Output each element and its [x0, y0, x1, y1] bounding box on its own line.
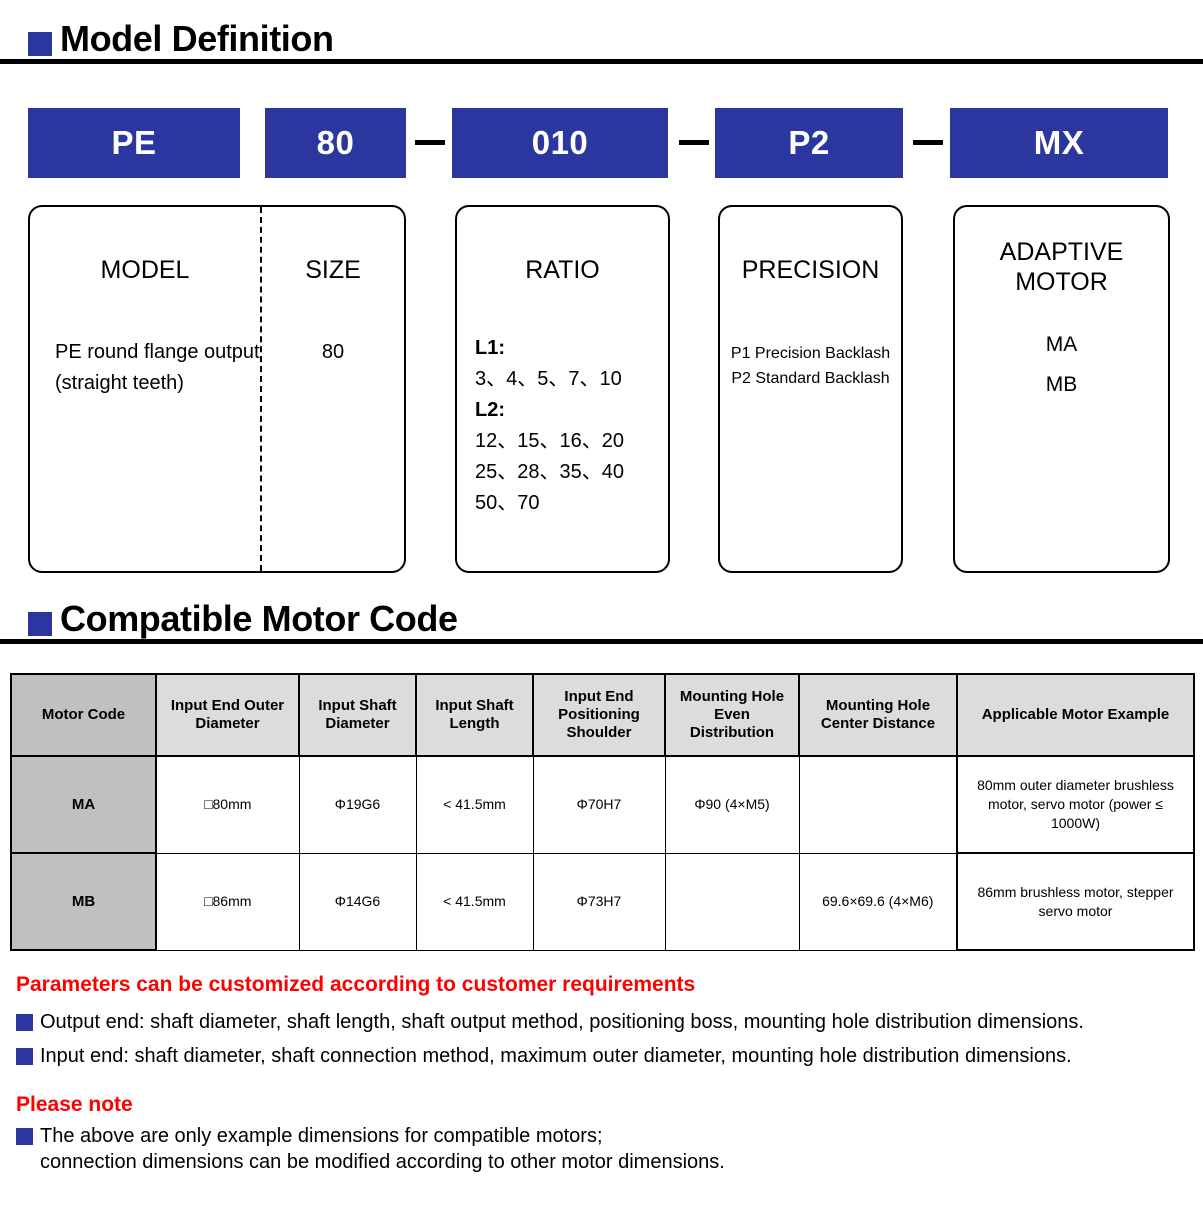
note-item-text: Output end: shaft diameter, shaft length…	[40, 1009, 1084, 1035]
note-item-text: The above are only example dimensions fo…	[40, 1123, 725, 1175]
model-code-segment-adaptive-motor[interactable]: MX	[950, 108, 1168, 178]
table-row: MB □86mm Φ14G6 < 41.5mm Φ73H7 69.6×69.6 …	[11, 853, 1194, 950]
card-body-model: PE round flange output (straight teeth)	[55, 337, 260, 399]
ratio-group-values-l1: 3、4、5、7、10	[475, 364, 665, 395]
card-title-size: SIZE	[262, 255, 404, 285]
precision-line-p1: P1 Precision Backlash	[720, 341, 901, 366]
table-header-input-end-outer-diameter: Input End Outer Diameter	[156, 674, 299, 756]
section-header-model-definition: Model Definition	[0, 18, 1203, 64]
table-header-applicable-motor-example: Applicable Motor Example	[957, 674, 1194, 756]
table-cell-motor-code: MA	[11, 756, 156, 853]
table-cell-input-shaft-diameter: Φ14G6	[299, 853, 416, 950]
table-cell-input-shaft-diameter: Φ19G6	[299, 756, 416, 853]
table-cell-mounting-hole-center-distance: 69.6×69.6 (4×M6)	[799, 853, 957, 950]
card-title-ratio: RATIO	[457, 255, 668, 285]
card-body-size: 80	[262, 337, 404, 368]
model-code-dash-2-icon	[679, 140, 709, 145]
notes-please-note-heading: Please note	[16, 1093, 133, 1117]
bullet-square-icon	[16, 1128, 33, 1145]
table-cell-mounting-hole-even-distribution: Φ90 (4×M5)	[665, 756, 799, 853]
model-code-segment-precision[interactable]: P2	[715, 108, 903, 178]
card-title-adaptive-motor: ADAPTIVE MOTOR	[955, 237, 1168, 297]
section-divider-rule	[0, 639, 1203, 644]
compatible-motor-table: Motor Code Input End Outer Diameter Inpu…	[10, 673, 1195, 951]
model-code-segment-model[interactable]: PE	[28, 108, 240, 178]
table-cell-input-shaft-length: < 41.5mm	[416, 853, 533, 950]
note-item-input-end: Input end: shaft diameter, shaft connect…	[16, 1043, 1196, 1069]
table-cell-input-end-outer-diameter: □80mm	[156, 756, 299, 853]
adaptive-motor-line-ma: MA	[955, 325, 1168, 365]
table-cell-motor-code: MB	[11, 853, 156, 950]
table-header-input-shaft-length: Input Shaft Length	[416, 674, 533, 756]
bullet-square-icon	[16, 1014, 33, 1031]
bullet-square-icon	[16, 1048, 33, 1065]
table-cell-input-shaft-length: < 41.5mm	[416, 756, 533, 853]
table-row: MA □80mm Φ19G6 < 41.5mm Φ70H7 Φ90 (4×M5)…	[11, 756, 1194, 853]
model-code-segment-size[interactable]: 80	[265, 108, 406, 178]
table-header-mounting-hole-center-distance: Mounting Hole Center Distance	[799, 674, 957, 756]
notes-customization-heading: Parameters can be customized according t…	[16, 973, 695, 997]
model-code-dash-3-icon	[913, 140, 943, 145]
section-marker-square-icon	[28, 612, 52, 636]
note-item-example-dimensions: The above are only example dimensions fo…	[16, 1123, 1196, 1175]
table-cell-applicable-motor-example: 86mm brushless motor, stepper servo moto…	[957, 853, 1194, 950]
model-code-dash-1-icon	[415, 140, 445, 145]
table-header-input-end-positioning-shoulder: Input End Positioning Shoulder	[533, 674, 665, 756]
section-divider-rule	[0, 59, 1203, 64]
table-cell-input-end-positioning-shoulder: Φ70H7	[533, 756, 665, 853]
table-header-motor-code: Motor Code	[11, 674, 156, 756]
descriptor-card-model-size: MODEL PE round flange output (straight t…	[28, 205, 406, 573]
table-header-row: Motor Code Input End Outer Diameter Inpu…	[11, 674, 1194, 756]
note-item-text: Input end: shaft diameter, shaft connect…	[40, 1043, 1072, 1069]
table-header-input-shaft-diameter: Input Shaft Diameter	[299, 674, 416, 756]
model-code-segment-ratio[interactable]: 010	[452, 108, 668, 178]
section-title-compatible-motor-code: Compatible Motor Code	[60, 596, 458, 642]
descriptor-card-precision: PRECISION P1 Precision Backlash P2 Stand…	[718, 205, 903, 573]
card-title-precision: PRECISION	[720, 255, 901, 285]
adaptive-motor-line-mb: MB	[955, 365, 1168, 405]
table-cell-mounting-hole-even-distribution	[665, 853, 799, 950]
ratio-group-label-l2: L2:	[475, 395, 665, 426]
table-cell-input-end-outer-diameter: □86mm	[156, 853, 299, 950]
table-header-mounting-hole-even-distribution: Mounting Hole Even Distribution	[665, 674, 799, 756]
ratio-group-values-l2: 12、15、16、20 25、28、35、40 50、70	[475, 426, 665, 519]
card-title-model: MODEL	[30, 255, 260, 285]
section-marker-square-icon	[28, 32, 52, 56]
ratio-group-label-l1: L1:	[475, 333, 665, 364]
page-title: Model Definition	[60, 16, 334, 62]
note-item-output-end: Output end: shaft diameter, shaft length…	[16, 1009, 1196, 1035]
descriptor-card-ratio: RATIO L1: 3、4、5、7、10 L2: 12、15、16、20 25、…	[455, 205, 670, 573]
descriptor-card-adaptive-motor: ADAPTIVE MOTOR MA MB	[953, 205, 1170, 573]
section-header-compatible-motor-code: Compatible Motor Code	[0, 598, 1203, 644]
precision-line-p2: P2 Standard Backlash	[720, 366, 901, 391]
table-cell-mounting-hole-center-distance	[799, 756, 957, 853]
table-cell-input-end-positioning-shoulder: Φ73H7	[533, 853, 665, 950]
table-cell-applicable-motor-example: 80mm outer diameter brushless motor, ser…	[957, 756, 1194, 853]
